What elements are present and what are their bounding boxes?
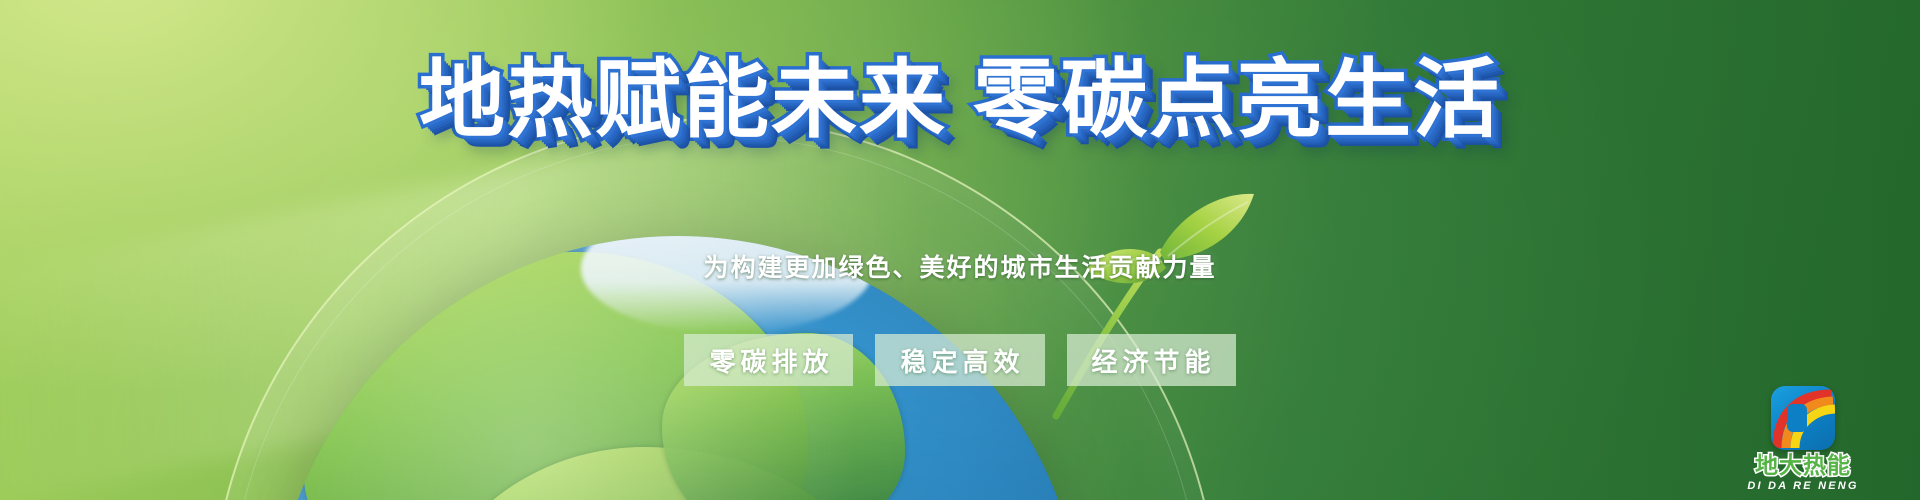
badge-economical-energy-saving[interactable]: 经济节能 bbox=[1067, 334, 1236, 386]
badge-zero-carbon[interactable]: 零碳排放 bbox=[684, 334, 853, 386]
feature-badge-list: 零碳排放 稳定高效 经济节能 bbox=[0, 334, 1920, 386]
brand-logo[interactable]: 地大热能 DI DA RE NENG bbox=[1728, 386, 1878, 492]
badge-stable-efficient[interactable]: 稳定高效 bbox=[875, 334, 1044, 386]
logo-rainbow-icon bbox=[1771, 386, 1835, 450]
logo-name-cn: 地大热能 bbox=[1755, 454, 1851, 479]
page-title: 地热赋能未来零碳点亮生活 bbox=[0, 55, 1920, 145]
title-part-two: 零碳点亮生活 bbox=[973, 50, 1501, 150]
title-part-one: 地热赋能未来 bbox=[419, 50, 947, 150]
logo-name-en: DI DA RE NENG bbox=[1747, 480, 1858, 492]
page-subtitle: 为构建更加绿色、美好的城市生活贡献力量 bbox=[0, 248, 1920, 284]
hero-banner: 地热赋能未来零碳点亮生活 为构建更加绿色、美好的城市生活贡献力量 零碳排放 稳定… bbox=[0, 0, 1920, 500]
